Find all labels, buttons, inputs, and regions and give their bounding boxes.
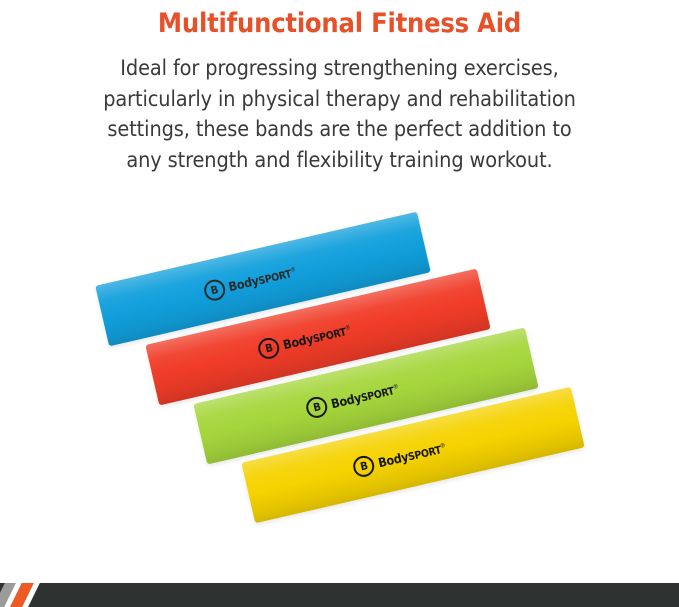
description-line: Ideal for progressing strengthening exer… — [36, 54, 643, 85]
logo-word-sport: SPORT — [312, 326, 347, 345]
bodysport-logo: B BodySPORT® — [352, 437, 448, 479]
bodysport-b-badge-icon: B — [305, 395, 330, 420]
registered-mark: ® — [290, 266, 297, 274]
bodysport-logo: B BodySPORT® — [257, 319, 353, 361]
description-line: any strength and flexibility training wo… — [36, 146, 643, 177]
description-line: settings, these bands are the perfect ad… — [36, 115, 643, 146]
description-paragraph: Ideal for progressing strengthening exer… — [0, 40, 679, 176]
bodysport-wordmark: BodySPORT® — [282, 322, 353, 352]
bodysport-b-badge-icon: B — [202, 278, 227, 303]
logo-word-body: Body — [377, 449, 410, 470]
bodysport-logo: B BodySPORT® — [305, 378, 401, 420]
footer-bar — [0, 583, 679, 607]
registered-mark: ® — [392, 383, 399, 391]
registered-mark: ® — [439, 442, 446, 450]
logo-word-body: Body — [282, 331, 315, 352]
logo-word-body: Body — [330, 390, 363, 411]
logo-word-sport: SPORT — [360, 385, 395, 404]
bodysport-b-badge-icon: B — [352, 454, 377, 479]
logo-word-sport: SPORT — [257, 268, 292, 287]
bodysport-b-badge-icon: B — [257, 336, 282, 361]
bodysport-logo: B BodySPORT® — [202, 261, 298, 303]
logo-word-sport: SPORT — [407, 444, 442, 463]
logo-word-body: Body — [227, 273, 260, 294]
page-title: Multifunctional Fitness Aid — [0, 0, 679, 40]
marketing-text-block: Multifunctional Fitness Aid Ideal for pr… — [0, 0, 679, 176]
bodysport-wordmark: BodySPORT® — [227, 264, 298, 294]
registered-mark: ® — [344, 324, 351, 332]
product-photo: B BodySPORT® B BodySPORT® B BodySPORT® B… — [0, 210, 679, 583]
description-line: particularly in physical therapy and reh… — [36, 85, 643, 116]
bodysport-wordmark: BodySPORT® — [330, 381, 401, 411]
bodysport-wordmark: BodySPORT® — [377, 440, 448, 470]
